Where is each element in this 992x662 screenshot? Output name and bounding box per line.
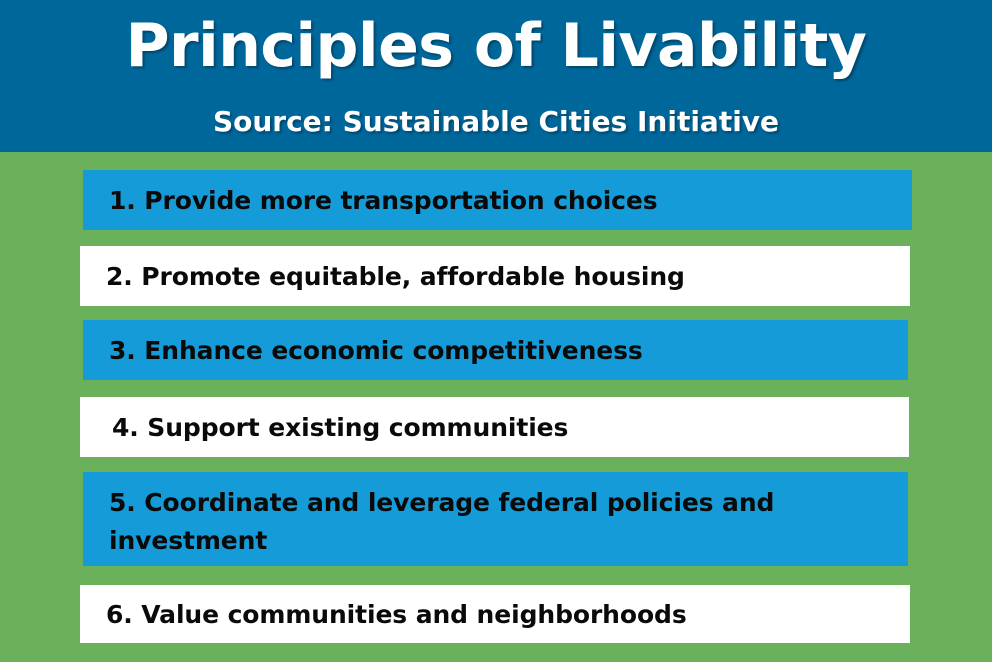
list-item: 3. Enhance economic competitiveness (83, 320, 908, 380)
source-subtitle: Source: Sustainable Cities Initiative (0, 104, 992, 140)
list-item: 5. Coordinate and leverage federal polic… (83, 472, 908, 566)
list-item: 2. Promote equitable, affordable housing (80, 246, 910, 306)
list-item: 4. Support existing communities (80, 397, 909, 457)
principle-label-1: 1. Provide more transportation choices (109, 184, 658, 217)
header-band: Principles of Livability Source: Sustain… (0, 0, 992, 152)
principle-label-2: 2. Promote equitable, affordable housing (106, 260, 685, 293)
list-item: 1. Provide more transportation choices (83, 170, 912, 230)
principle-label-6: 6. Value communities and neighborhoods (106, 598, 687, 631)
principle-label-4: 4. Support existing communities (112, 411, 568, 444)
livability-poster: Principles of Livability Source: Sustain… (0, 0, 992, 662)
list-item: 6. Value communities and neighborhoods (80, 585, 910, 643)
principle-label-3: 3. Enhance economic competitiveness (109, 334, 643, 367)
principle-list: 1. Provide more transportation choices 2… (0, 152, 992, 662)
page-title: Principles of Livability (0, 9, 992, 83)
principle-label-5: 5. Coordinate and leverage federal polic… (109, 484, 894, 560)
